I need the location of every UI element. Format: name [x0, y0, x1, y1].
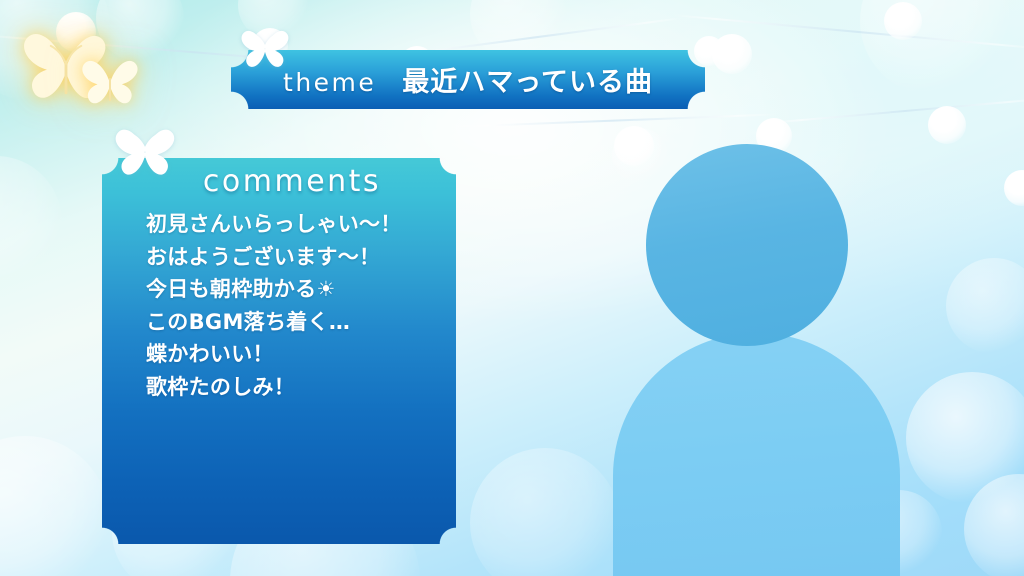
comment-item: おはようございます〜！	[146, 245, 442, 271]
bokeh-circle	[946, 258, 1024, 354]
string-lights	[768, 98, 1024, 124]
bokeh-circle	[964, 474, 1024, 576]
avatar-body	[613, 333, 900, 576]
string-light-bulb	[928, 106, 966, 144]
bokeh-circle	[96, 0, 184, 62]
comment-item: 初見さんいらっしゃい〜！	[146, 212, 442, 238]
comments-list: 初見さんいらっしゃい〜！ おはようございます〜！ 今日も朝枠助かる☀ このBGM…	[146, 212, 442, 401]
bokeh-circle	[612, 128, 668, 184]
theme-banner-title: 最近ハマっている曲	[402, 60, 653, 99]
bokeh-circle	[238, 0, 308, 40]
glowing-butterfly-large-icon	[18, 22, 114, 108]
comment-item: 歌枠たのしみ！	[146, 375, 442, 401]
theme-banner: theme 最近ハマっている曲	[231, 50, 705, 109]
string-lights	[672, 14, 1024, 50]
glowing-butterfly-small-icon	[77, 50, 143, 112]
avatar-head	[646, 144, 848, 346]
bokeh-circle	[860, 0, 1010, 96]
string-light-bulb	[56, 12, 96, 52]
string-light-bulb	[884, 2, 922, 40]
bokeh-circle	[0, 436, 110, 576]
comment-item: 今日も朝枠助かる☀	[146, 277, 442, 303]
string-light-bulb	[712, 34, 752, 74]
string-light-bulb	[614, 126, 654, 166]
comments-panel: comments 初見さんいらっしゃい〜！ おはようございます〜！ 今日も朝枠助…	[102, 158, 456, 544]
bokeh-circle	[0, 0, 110, 102]
comments-panel-heading: comments	[102, 164, 456, 199]
theme-banner-inner: theme 最近ハマっている曲	[283, 60, 653, 99]
bokeh-circle	[470, 448, 620, 576]
string-light-bulb	[1004, 170, 1024, 206]
stream-overlay-stage: theme 最近ハマっている曲 comments 初見さんいらっしゃい〜！ おは…	[0, 0, 1024, 576]
string-lights	[448, 113, 778, 128]
comment-item: 蝶かわいい！	[146, 342, 442, 368]
comment-item: このBGM落ち着く…	[146, 310, 442, 336]
bokeh-circle	[906, 372, 1024, 504]
bokeh-circle	[0, 156, 62, 288]
theme-banner-kicker: theme	[283, 68, 376, 97]
